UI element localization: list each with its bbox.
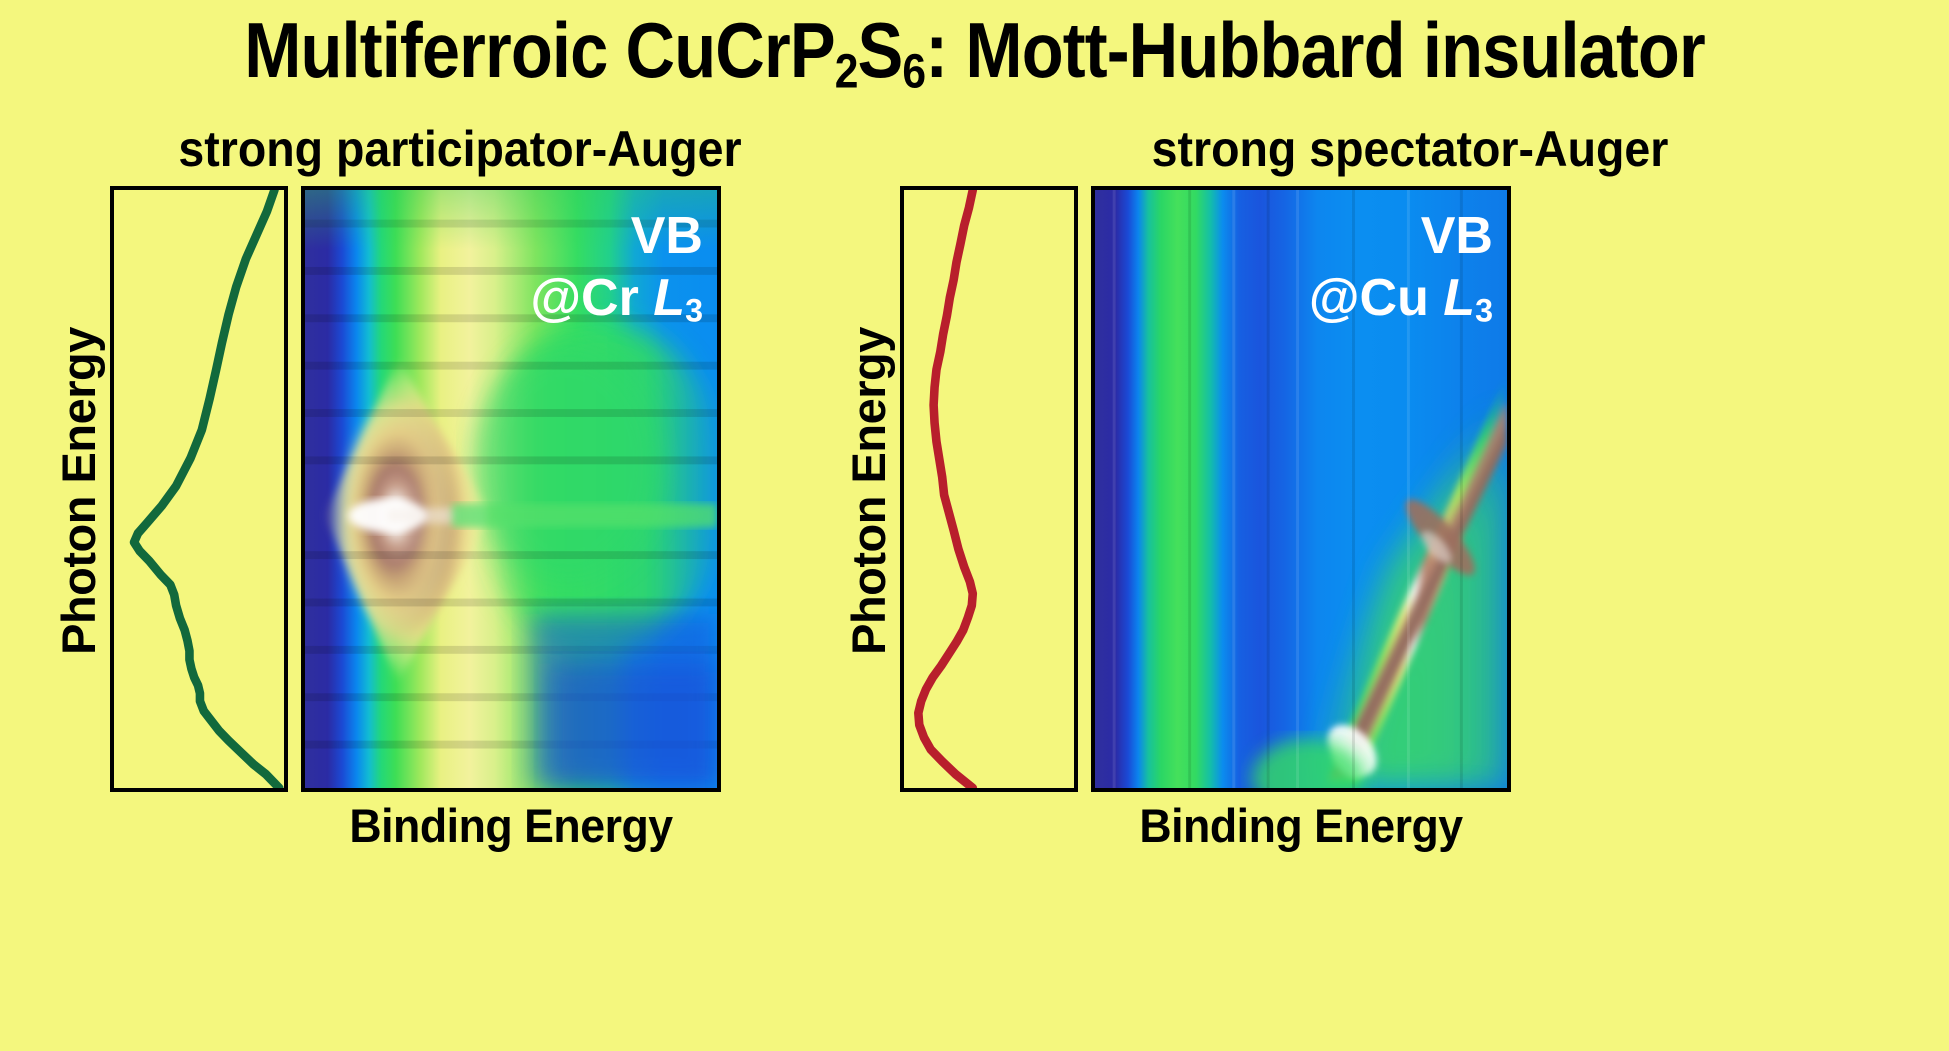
- y-axis-label-right: Photon Energy: [838, 186, 900, 796]
- title-subscript-2: 2: [835, 45, 858, 99]
- heatmap-cr-l3: VB @Cr L3: [301, 186, 721, 792]
- subtitle-left: strong participator-Auger: [88, 124, 832, 174]
- xas-curve-right-svg: [904, 190, 1074, 788]
- xas-curve-left-svg: [114, 190, 284, 788]
- title-prefix: Multiferroic CuCrP: [244, 6, 835, 94]
- y-axis-label-left: Photon Energy: [48, 186, 110, 796]
- xas-spectrum-right: [900, 186, 1078, 792]
- xas-curve-left: [134, 190, 279, 788]
- title-subscript-6: 6: [902, 45, 925, 99]
- figure-title: Multiferroic CuCrP2S6: Mott-Hubbard insu…: [117, 10, 1832, 97]
- subtitle-right: strong spectator-Auger: [1038, 124, 1782, 174]
- xas-spectrum-left: [110, 186, 288, 792]
- heatmap-cu-l3-svg: [1095, 190, 1507, 788]
- xas-curve-right: [918, 190, 972, 788]
- x-axis-label-left: Binding Energy: [266, 798, 756, 853]
- title-suffix: : Mott-Hubbard insulator: [925, 6, 1705, 94]
- heatmap-cu-l3: VB @Cu L3: [1091, 186, 1511, 792]
- heatmap-cr-l3-svg: [305, 190, 717, 788]
- x-axis-label-right: Binding Energy: [1056, 798, 1546, 853]
- title-mid: S: [858, 6, 903, 94]
